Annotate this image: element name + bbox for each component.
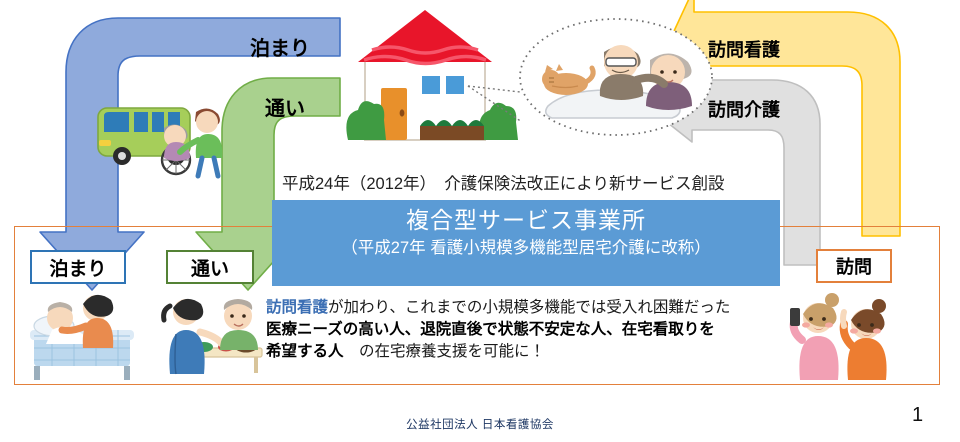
footer-organization: 公益社団法人 日本看護協会 [0, 416, 960, 432]
arrow-label-home-nursing: 訪問看護 [708, 36, 780, 62]
description-line-3-rest: の在宅療養支援を可能に！ [344, 343, 546, 360]
description-emphasis-nursing: 訪問看護 [266, 299, 328, 316]
arrow-label-home-care: 訪問介護 [708, 96, 780, 122]
law-revision-caption: 平成24年（2012年） 介護保険法改正により新サービス創設 [282, 170, 842, 194]
elderly-couple-callout [520, 19, 712, 135]
slide-canvas: 平成24年（2012年） 介護保険法改正により新サービス創設 複合型サービス事業… [0, 0, 960, 442]
house-illustration [346, 10, 522, 140]
description-line-3: 希望する人 の在宅療養支援を可能に！ [266, 341, 766, 363]
tag-stay: 泊まり [30, 250, 126, 284]
description-line-3-bold: 希望する人 [266, 343, 344, 360]
service-name-box: 複合型サービス事業所 （平成27年 看護小規模多機能型居宅介護に改称） [272, 200, 780, 286]
description-line-2: 医療ニーズの高い人、退院直後で状態不安定な人、在宅看取りを [266, 319, 766, 341]
service-title: 複合型サービス事業所 [272, 205, 780, 236]
tag-day: 通い [166, 250, 254, 284]
bus-wheelchair-illustration [98, 108, 222, 176]
tag-visit: 訪問 [816, 249, 892, 283]
service-subtitle: （平成27年 看護小規模多機能型居宅介護に改称） [272, 236, 780, 260]
description-line-1: 訪問看護が加わり、これまでの小規模多機能では受入れ困難だった [266, 297, 766, 319]
arrow-label-stay: 泊まり [250, 32, 310, 61]
page-number: 1 [912, 404, 923, 427]
description-text: 訪問看護が加わり、これまでの小規模多機能では受入れ困難だった 医療ニーズの高い人… [266, 297, 766, 363]
description-line-1-rest: が加わり、これまでの小規模多機能では受入れ困難だった [328, 299, 730, 316]
arrow-label-day: 通い [265, 92, 305, 121]
